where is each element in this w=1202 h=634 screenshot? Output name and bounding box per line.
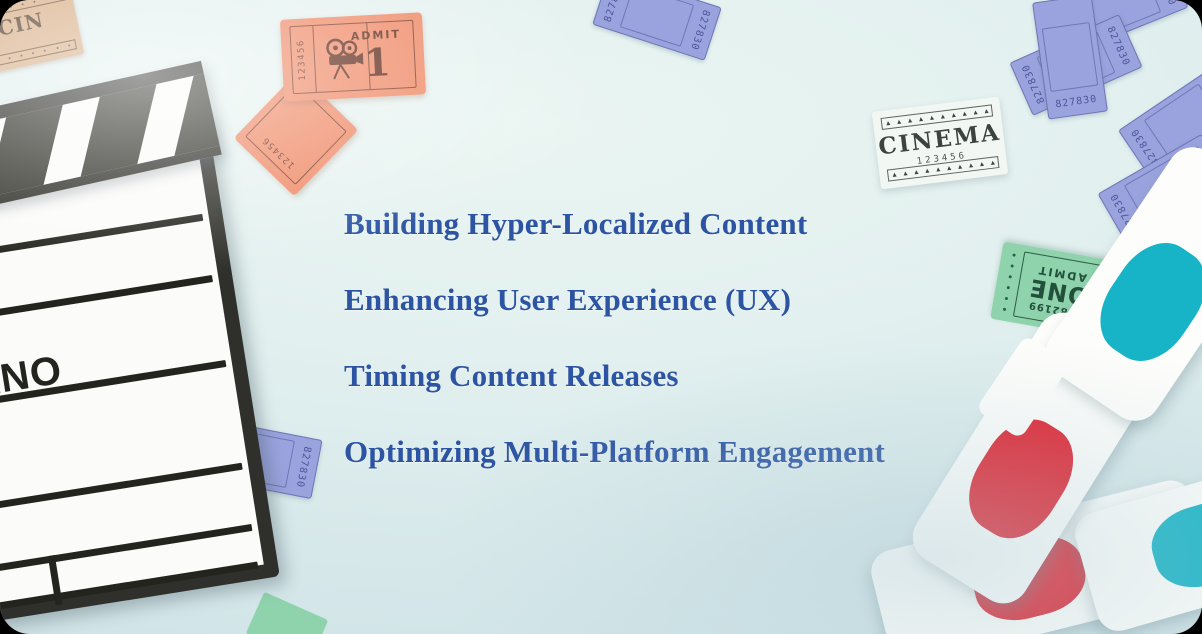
rule-line: [0, 275, 213, 332]
admit-count: 1: [343, 41, 411, 84]
slide-canvas: 827830 827830 827830 827830 827830 82783…: [0, 0, 1202, 634]
ticket-number: 123456: [289, 28, 314, 91]
ticket-inner-border: [620, 0, 694, 47]
clapstick-stripe: [78, 71, 160, 187]
cinema-ticket: CINEMA 123456: [872, 96, 1009, 189]
lens-cyan: [1083, 227, 1202, 376]
headline-list: Building Hyper-Localized Content Enhanci…: [344, 186, 1044, 490]
orange-admit-one-ticket: 123456 ADMIT 1: [280, 12, 426, 101]
headline-item: Enhancing User Experience (UX): [344, 262, 1044, 338]
headline-item: Timing Content Releases: [344, 338, 1044, 414]
rule-line: [0, 561, 258, 618]
clapstick-stripe: [172, 61, 222, 167]
green-ticket-corner: [246, 592, 329, 634]
headline-item: Building Hyper-Localized Content: [344, 186, 1044, 262]
headline-item: Optimizing Multi-Platform Engagement: [344, 414, 1044, 490]
clapperboard-rule-lines: [0, 213, 264, 617]
blue-ticket: 827830 827830: [592, 0, 722, 61]
rule-line: [0, 463, 243, 520]
ticket-inner-border: [1042, 22, 1098, 92]
clapstick-stripe: [0, 92, 66, 208]
rule-line: [0, 214, 203, 271]
